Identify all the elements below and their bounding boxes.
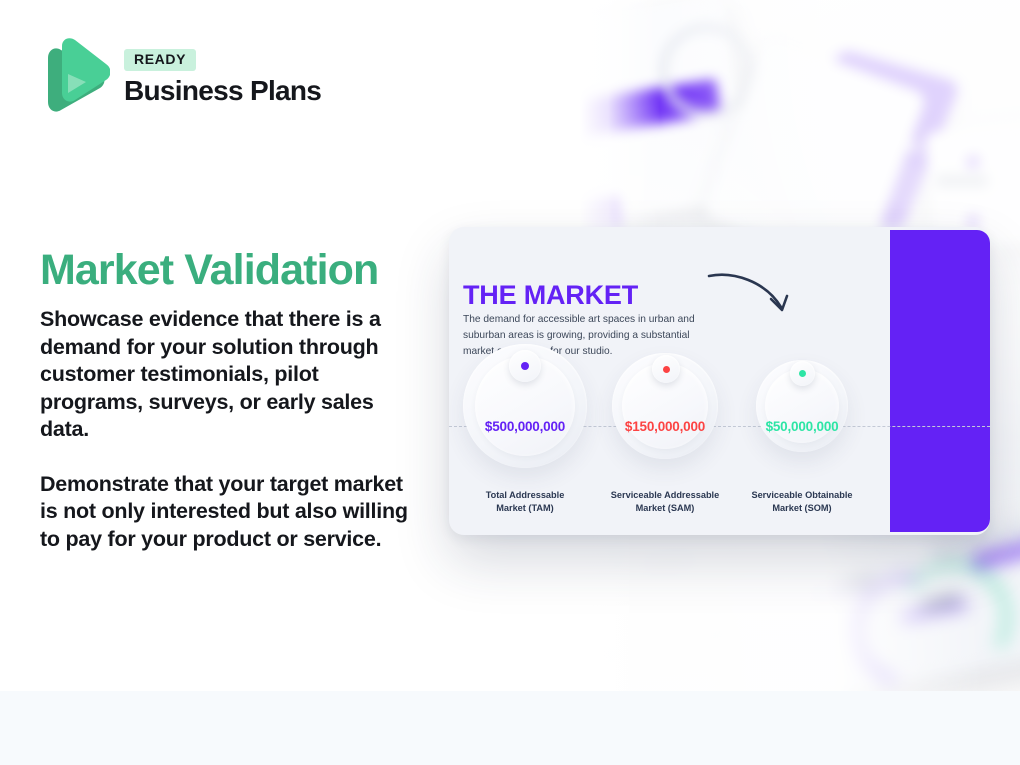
gauge-sam-label-line2: Market (SAM) xyxy=(636,503,695,513)
brand-lockup: READY Business Plans xyxy=(40,38,321,116)
gauge-sam-label-line1: Serviceable Addressable xyxy=(611,490,719,500)
gauge-sam-value: $150,000,000 xyxy=(595,419,735,434)
bottom-strip xyxy=(0,691,1020,765)
gauge-tam-dot xyxy=(521,362,529,370)
gauge-som-label-line2: Market (SOM) xyxy=(772,503,831,513)
body-paragraph-2: Demonstrate that your target market is n… xyxy=(40,471,420,554)
play-triangle-logo-icon xyxy=(40,38,110,116)
background-dot-teal xyxy=(600,545,616,561)
market-gauges: $500,000,000 Total Addressable Market (T… xyxy=(449,227,990,535)
ready-badge: READY xyxy=(124,49,196,71)
body-paragraph-1: Showcase evidence that there is a demand… xyxy=(40,306,420,444)
body-copy: Showcase evidence that there is a demand… xyxy=(40,306,420,553)
left-content-panel: READY Business Plans Market Validation S… xyxy=(0,0,470,691)
gauge-tam-knob xyxy=(509,350,541,382)
gauge-som-value: $50,000,000 xyxy=(732,419,872,434)
gauge-som-label: Serviceable Obtainable Market (SOM) xyxy=(724,489,880,515)
brand-title: Business Plans xyxy=(124,76,321,105)
brand-text-block: READY Business Plans xyxy=(124,49,321,106)
gauge-sam-knob xyxy=(652,355,680,383)
gauge-tam-label-line2: Market (TAM) xyxy=(496,503,554,513)
gauge-tam-label: Total Addressable Market (TAM) xyxy=(449,489,603,515)
gauge-sam-dot xyxy=(663,366,670,373)
gauge-tam-label-line1: Total Addressable xyxy=(486,490,565,500)
gauge-som-knob xyxy=(790,361,815,386)
the-market-card: THE MARKET The demand for accessible art… xyxy=(449,227,990,535)
gauge-tam-value: $500,000,000 xyxy=(455,419,595,434)
page-title: Market Validation xyxy=(40,247,378,294)
gauge-sam-label: Serviceable Addressable Market (SAM) xyxy=(587,489,743,515)
gauge-som-label-line1: Serviceable Obtainable xyxy=(751,490,852,500)
slide-page: READY Business Plans Market Validation S… xyxy=(0,0,1020,765)
gauge-som-dot xyxy=(799,370,806,377)
